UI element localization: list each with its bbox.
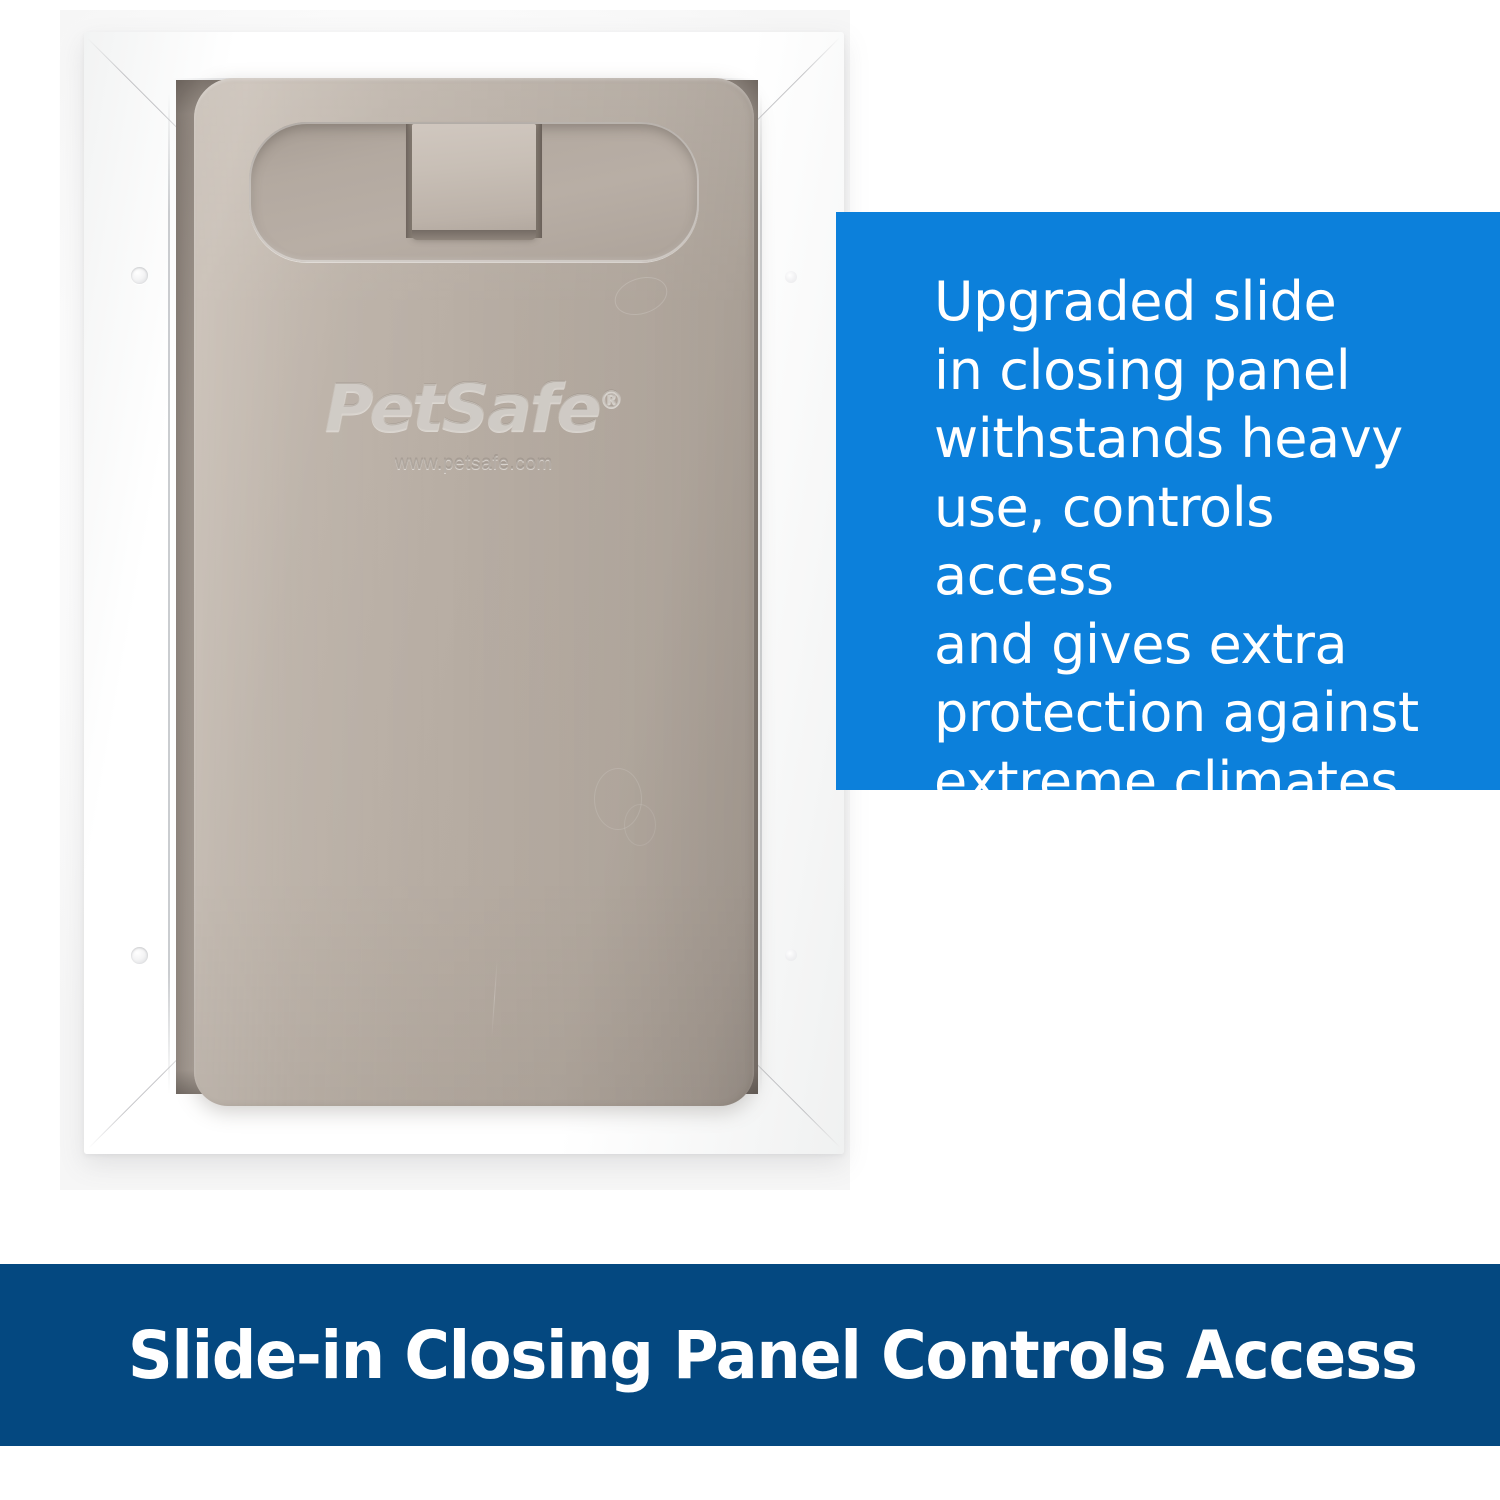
banner-headline: Slide-in Closing Panel Controls Access: [128, 1317, 1417, 1394]
panel-surface-mark: [624, 804, 656, 846]
hero-area: PetSafe® www.petsafe.com Upgraded slide …: [0, 0, 1500, 1260]
panel-pull-tab[interactable]: [412, 124, 536, 236]
product-photo: PetSafe® www.petsafe.com: [60, 10, 850, 1190]
screw-hole-bottom-right: [785, 949, 797, 961]
panel-surface-mark: [491, 958, 498, 1038]
petsafe-wordmark: PetSafe®: [194, 370, 754, 447]
brand-emboss-group: PetSafe® www.petsafe.com: [194, 370, 754, 475]
feature-callout-panel: Upgraded slide in closing panel withstan…: [836, 212, 1500, 790]
panel-surface-mark: [610, 271, 672, 322]
frame-bevel-left: [168, 92, 170, 1094]
petsafe-url-emboss: www.petsafe.com: [194, 453, 754, 475]
registered-trademark-icon: ®: [599, 386, 623, 414]
slide-in-closing-panel[interactable]: PetSafe® www.petsafe.com: [194, 78, 754, 1106]
petsafe-wordmark-text: PetSafe: [325, 370, 599, 447]
screw-hole-top-left: [131, 267, 148, 284]
frame-bevel-right: [760, 92, 762, 1094]
handle-tab-underside: [412, 230, 536, 240]
handle-tab-right-edge: [535, 124, 542, 238]
feature-callout-text: Upgraded slide in closing panel withstan…: [934, 268, 1464, 817]
panel-surface-mark: [594, 768, 642, 830]
bottom-banner: Slide-in Closing Panel Controls Access: [0, 1264, 1500, 1446]
screw-hole-top-right: [785, 271, 797, 283]
screw-hole-bottom-left: [131, 947, 148, 964]
pet-door-frame: PetSafe® www.petsafe.com: [84, 32, 844, 1154]
panel-handle-slot[interactable]: [249, 122, 699, 262]
